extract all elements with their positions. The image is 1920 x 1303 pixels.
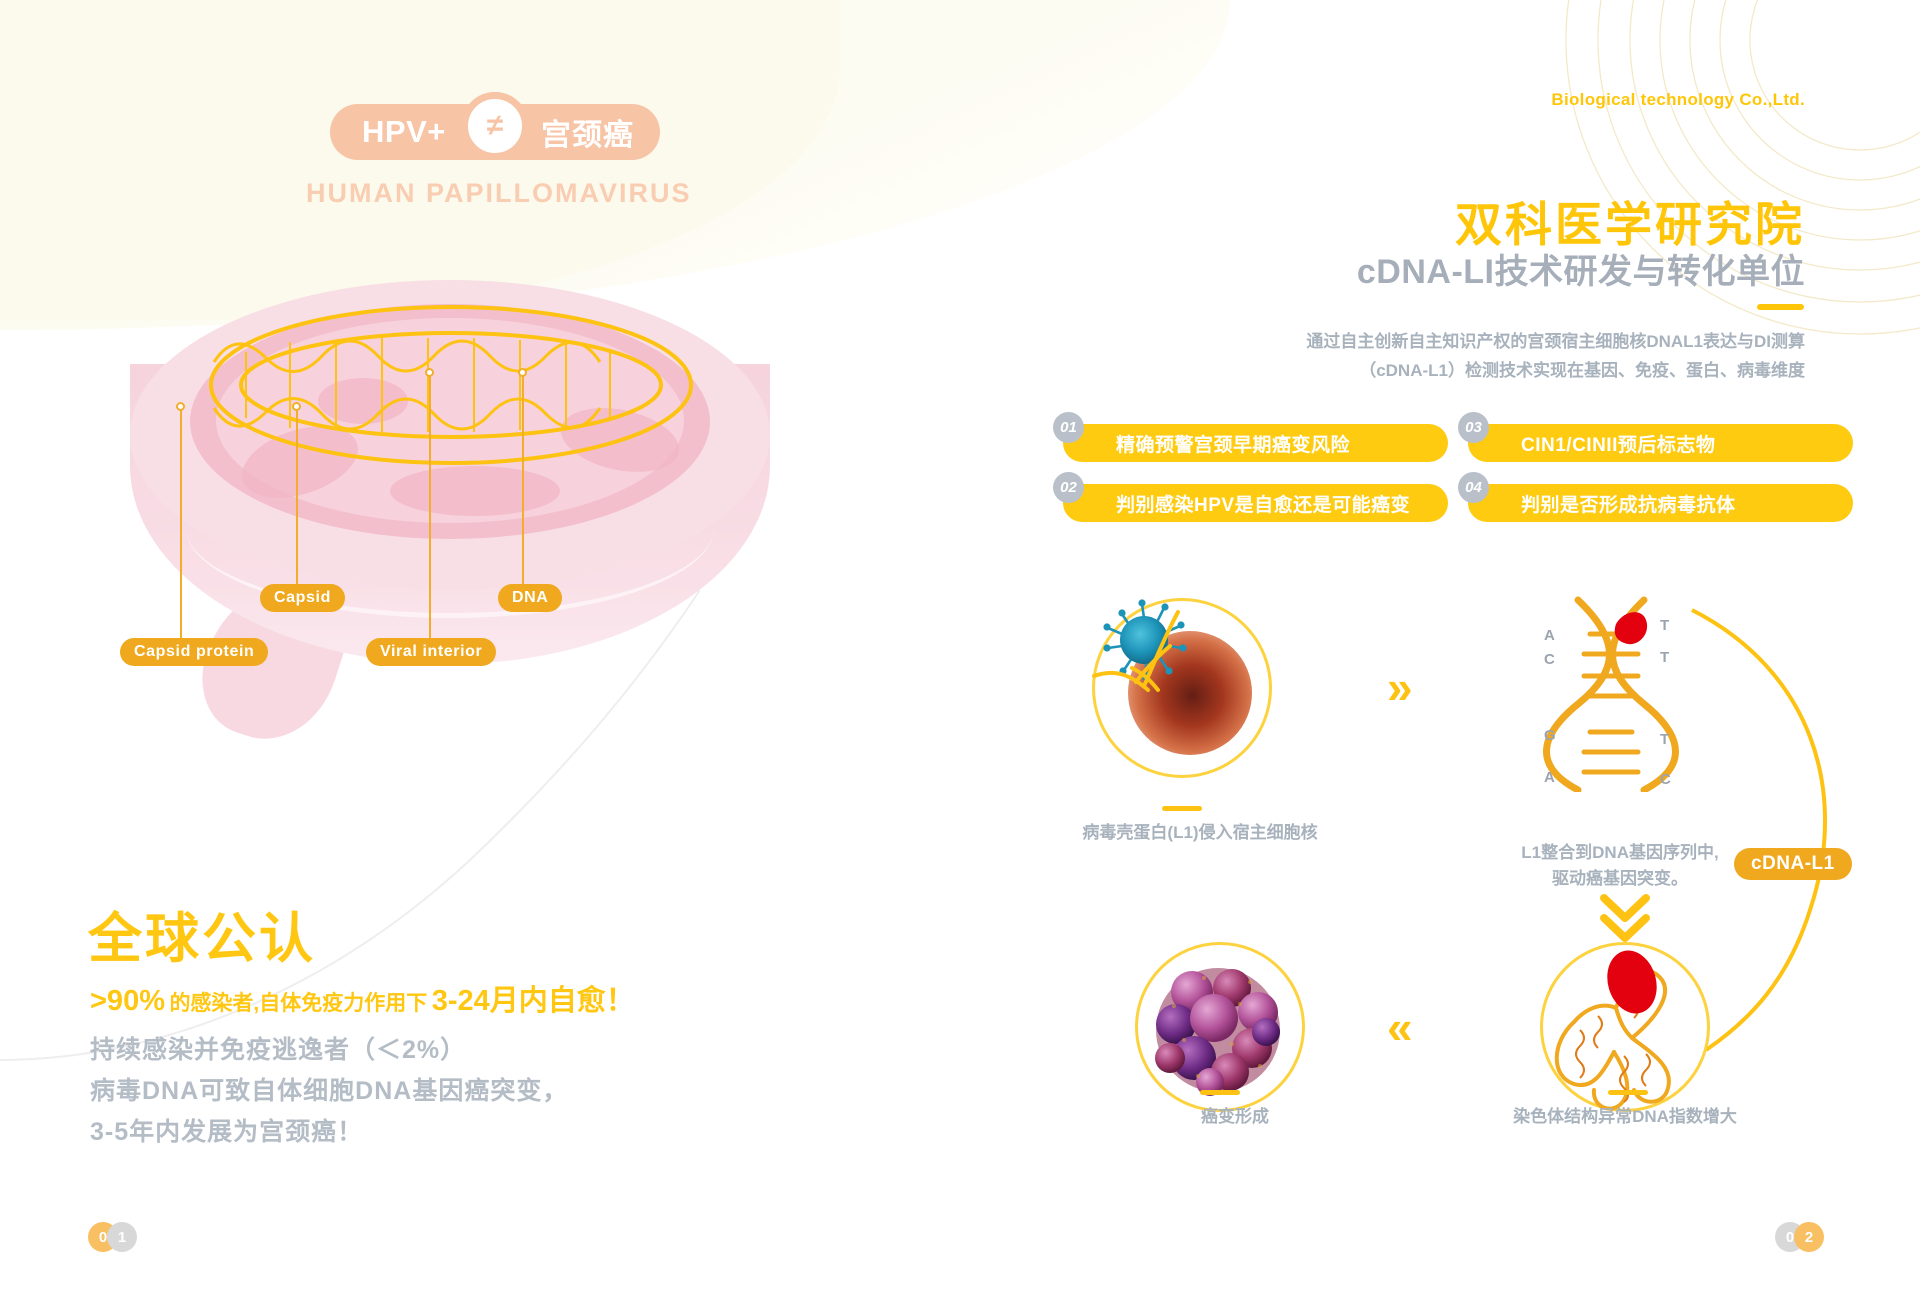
global-body-copy: 持续感染并免疫逃逸者（＜2%） 病毒DNA可致自体细胞DNA基因癌突变， 3-5… (90, 1030, 568, 1153)
label-capsid-protein: Capsid protein (120, 638, 268, 666)
stat-middle-text: 的感染者,自体免疫力作用下 (169, 992, 427, 1015)
global-consensus-title: 全球公认 (88, 894, 316, 973)
page-indicator-right: 0 2 (1775, 1222, 1824, 1252)
feature-number-01: 01 (1053, 412, 1084, 443)
hpv-badge-left-label: HPV+ (362, 114, 446, 150)
leader-line-capsid (296, 410, 298, 586)
background-arc-decoration (1160, 0, 1920, 360)
description-line-2: （cDNA-L1）检测技术实现在基因、免疫、蛋白、病毒维度 (1225, 356, 1805, 385)
feature-label-01: 精确预警宫颈早期癌变风险 (1116, 430, 1350, 457)
global-body-line-2: 病毒DNA可致自体细胞DNA基因癌突变， (90, 1071, 568, 1112)
step3-caption-rule (1200, 1090, 1240, 1095)
feature-label-04: 判别是否形成抗病毒抗体 (1521, 490, 1736, 517)
feature-number-02: 02 (1053, 472, 1084, 503)
institute-description: 通过自主创新自主知识产权的宫颈宿主细胞核DNAL1表达与DI测算 （cDNA-L… (1225, 327, 1805, 385)
hpv-badge-right-label: 宫颈癌 (541, 110, 634, 154)
hpv-subtitle: HUMAN PAPILLOMAVIRUS (306, 178, 692, 209)
not-equal-icon: ≠ (461, 92, 529, 160)
leader-line-capsid-protein (180, 410, 182, 638)
company-name: Biological technology Co.,Ltd. (1551, 90, 1805, 110)
arrow-right-icon: » (1387, 664, 1413, 710)
feature-number-04: 04 (1458, 472, 1489, 503)
leader-line-dna (522, 376, 524, 584)
feature-label-03: CIN1/CINII预后标志物 (1521, 430, 1715, 457)
cdna-l1-badge: cDNA-L1 (1734, 848, 1852, 880)
feature-row-2: 02 判别感染HPV是自愈还是可能癌变 04 判别是否形成抗病毒抗体 (1063, 484, 1863, 522)
leader-line-viral-interior (429, 376, 431, 638)
feature-item-03[interactable]: 03 CIN1/CINII预后标志物 (1468, 424, 1853, 462)
hpv-title-badge: HPV+ ≠ 宫颈癌 (330, 104, 660, 160)
stat-tail-text: 3-24月内自愈！ (432, 985, 635, 1017)
chromosome-illustration (1528, 930, 1738, 1130)
feature-list: 01 精确预警宫颈早期癌变风险 03 CIN1/CINII预后标志物 02 判别… (1063, 424, 1863, 544)
feature-label-02: 判别感染HPV是自愈还是可能癌变 (1116, 490, 1410, 517)
feature-item-02[interactable]: 02 判别感染HPV是自愈还是可能癌变 (1063, 484, 1448, 522)
arrow-left-icon: « (1387, 1004, 1413, 1050)
label-dna: DNA (498, 584, 562, 612)
label-capsid: Capsid (260, 584, 345, 612)
feature-item-01[interactable]: 01 精确预警宫颈早期癌变风险 (1063, 424, 1448, 462)
step3-caption: 癌变形成 (1120, 1104, 1350, 1130)
svg-text:G: G (1544, 727, 1556, 744)
step4-caption: 染色体结构异常DNA指数增大 (1480, 1104, 1770, 1130)
dna-ring-icon (186, 290, 716, 480)
page-digit-left-b: 1 (107, 1222, 137, 1252)
feature-row-1: 01 精确预警宫颈早期癌变风险 03 CIN1/CINII预后标志物 (1063, 424, 1863, 462)
step1-caption-rule (1162, 806, 1202, 811)
svg-text:A: A (1544, 627, 1555, 644)
virus-illustration (90, 280, 810, 700)
description-line-1: 通过自主创新自主知识产权的宫颈宿主细胞核DNAL1表达与DI测算 (1225, 327, 1805, 356)
svg-text:C: C (1544, 651, 1555, 668)
global-statistic-line: >90% 的感染者,自体免疫力作用下 3-24月内自愈！ (90, 977, 635, 1019)
label-viral-interior: Viral interior (366, 638, 496, 666)
page-indicator-left: 0 1 (88, 1222, 137, 1252)
step4-caption-rule (1608, 1090, 1648, 1095)
global-body-line-3: 3-5年内发展为宫颈癌！ (90, 1112, 568, 1153)
global-body-line-1: 持续感染并免疫逃逸者（＜2%） (90, 1030, 568, 1071)
title-divider (1757, 304, 1804, 310)
stat-percent: >90% (90, 985, 165, 1017)
institute-subtitle: cDNA-LI技术研发与转化单位 (1357, 244, 1805, 293)
poster-canvas: HPV+ ≠ 宫颈癌 HUMAN PAPILLOMAVIRUS Biologic… (0, 0, 1920, 1303)
background-cream-wash-secondary (0, 0, 840, 320)
step1-caption: 病毒壳蛋白(L1)侵入宿主细胞核 (1070, 820, 1330, 846)
feature-item-04[interactable]: 04 判别是否形成抗病毒抗体 (1468, 484, 1853, 522)
svg-text:A: A (1544, 769, 1555, 786)
virus-attack-illustration (1092, 590, 1292, 790)
feature-number-03: 03 (1458, 412, 1489, 443)
page-digit-right-b: 2 (1794, 1222, 1824, 1252)
